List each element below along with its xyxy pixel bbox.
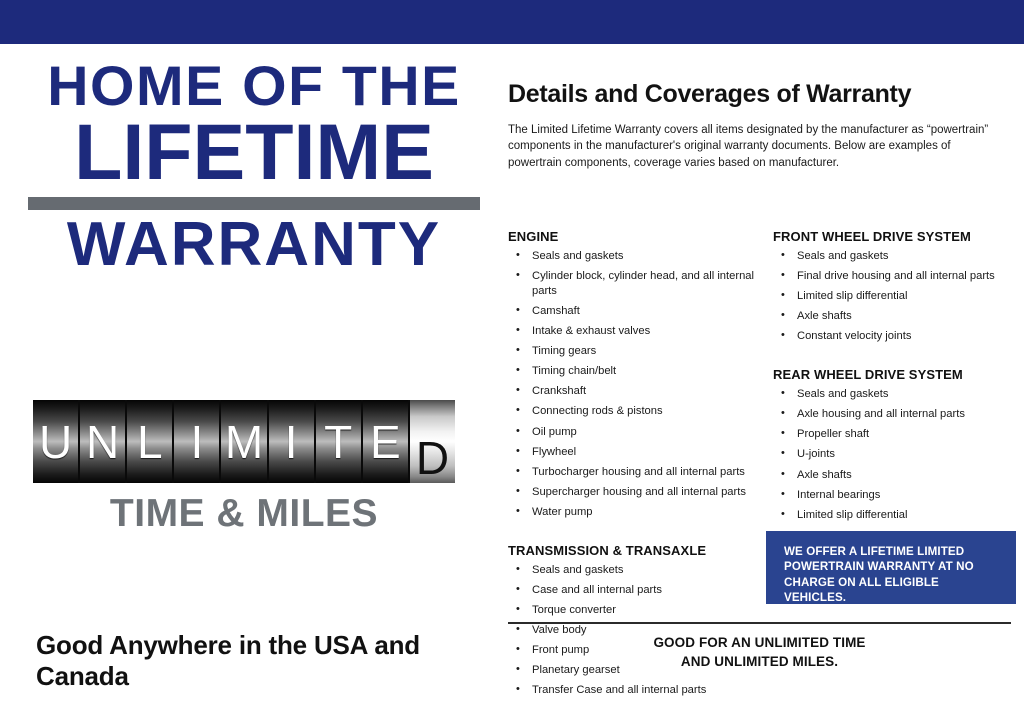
odometer-cell: U [33,400,78,483]
coverage-column-right: FRONT WHEEL DRIVE SYSTEM Seals and gaske… [765,229,1024,703]
coverage-column-left: ENGINE Seals and gaskets Cylinder block,… [500,229,765,703]
odometer-cell: E [363,400,408,483]
right-details-panel: Details and Coverages of Warranty The Li… [500,44,1024,681]
list-item: Water pump [508,505,765,520]
list-item: Case and all internal parts [508,583,765,598]
list-item: Transfer Case and all internal parts [508,683,765,698]
odometer-cell: I [269,400,314,483]
rear-wheel-drive-parts-list: Seals and gaskets Axle housing and all i… [773,387,1024,522]
list-item: Seals and gaskets [508,563,765,578]
odometer-char: M [225,419,263,465]
section-heading-front-wheel-drive: FRONT WHEEL DRIVE SYSTEM [773,229,1024,244]
list-item: Flywheel [508,445,765,460]
logo-divider-rule [28,197,480,210]
lifetime-warranty-logo: HOME OF THE LIFETIME WARRANTY [28,60,480,274]
list-item: Propeller shaft [773,427,1024,442]
list-item: Camshaft [508,304,765,319]
promo-callout-box: WE OFFER A LIFETIME LIMITED POWERTRAIN W… [766,531,1016,604]
odometer-cell: T [316,400,361,483]
logo-line-warranty: WARRANTY [28,216,480,274]
odometer-graphic: U N L I M I T E D [33,400,455,483]
logo-line-home-of-the: HOME OF THE [23,60,484,113]
list-item: Timing gears [508,344,765,359]
section-heading-engine: ENGINE [508,229,765,244]
section-heading-transmission: TRANSMISSION & TRANSAXLE [508,543,765,558]
list-item: Turbocharger housing and all internal pa… [508,465,765,480]
promo-text: WE OFFER A LIFETIME LIMITED POWERTRAIN W… [784,544,1002,606]
odometer-char: I [190,419,203,465]
odometer-char: D [416,435,449,481]
list-item: Torque converter [508,603,765,618]
odometer-cell: N [80,400,125,483]
list-item: Supercharger housing and all internal pa… [508,485,765,500]
odometer-cell-rolling: D [410,400,455,483]
coverage-columns: ENGINE Seals and gaskets Cylinder block,… [500,229,1024,703]
front-wheel-drive-parts-list: Seals and gaskets Final drive housing an… [773,249,1024,344]
list-item: Seals and gaskets [773,387,1024,402]
list-item: Connecting rods & pistons [508,404,765,419]
list-item: Constant velocity joints [773,329,1024,344]
odometer-char: I [285,419,298,465]
transmission-parts-list: Seals and gaskets Case and all internal … [508,563,765,698]
list-item: Internal bearings [773,488,1024,503]
odometer-char: U [39,419,72,465]
page-title: Details and Coverages of Warranty [508,80,911,109]
list-item: Cylinder block, cylinder head, and all i… [508,269,765,299]
odometer-cell: M [221,400,266,483]
unlimited-time-miles-footer: GOOD FOR AN UNLIMITED TIME AND UNLIMITED… [508,634,1011,672]
section-heading-rear-wheel-drive: REAR WHEEL DRIVE SYSTEM [773,367,1024,382]
list-item: Axle shafts [773,468,1024,483]
time-and-miles-subtitle: TIME & MILES [33,492,455,536]
left-branding-panel: HOME OF THE LIFETIME WARRANTY U N L I M … [0,44,500,681]
footer-divider-rule [508,622,1011,624]
odometer-char: E [370,419,401,465]
odometer-cell: I [174,400,219,483]
list-item: Seals and gaskets [773,249,1024,264]
list-item: Timing chain/belt [508,364,765,379]
list-item: Oil pump [508,425,765,440]
odometer-char: T [324,419,352,465]
logo-line-lifetime: LIFETIME [28,115,480,189]
list-item: Limited slip differential [773,508,1024,523]
footer-line-2: AND UNLIMITED MILES. [508,653,1011,672]
top-blue-banner [0,0,1024,44]
list-item: Seals and gaskets [508,249,765,264]
list-item: Final drive housing and all internal par… [773,269,1024,284]
good-anywhere-footer: Good Anywhere in the USA and Canada [36,630,500,692]
odometer-cell: L [127,400,172,483]
list-item: U-joints [773,447,1024,462]
odometer-char: N [86,419,119,465]
flyer-body: HOME OF THE LIFETIME WARRANTY U N L I M … [0,44,1024,681]
details-description: The Limited Lifetime Warranty covers all… [508,122,1006,171]
list-item: Axle housing and all internal parts [773,407,1024,422]
list-item: Limited slip differential [773,289,1024,304]
list-item: Intake & exhaust valves [508,324,765,339]
odometer-char: L [137,419,163,465]
list-item: Crankshaft [508,384,765,399]
engine-parts-list: Seals and gaskets Cylinder block, cylind… [508,249,765,520]
list-item: Axle shafts [773,309,1024,324]
footer-line-1: GOOD FOR AN UNLIMITED TIME [508,634,1011,653]
